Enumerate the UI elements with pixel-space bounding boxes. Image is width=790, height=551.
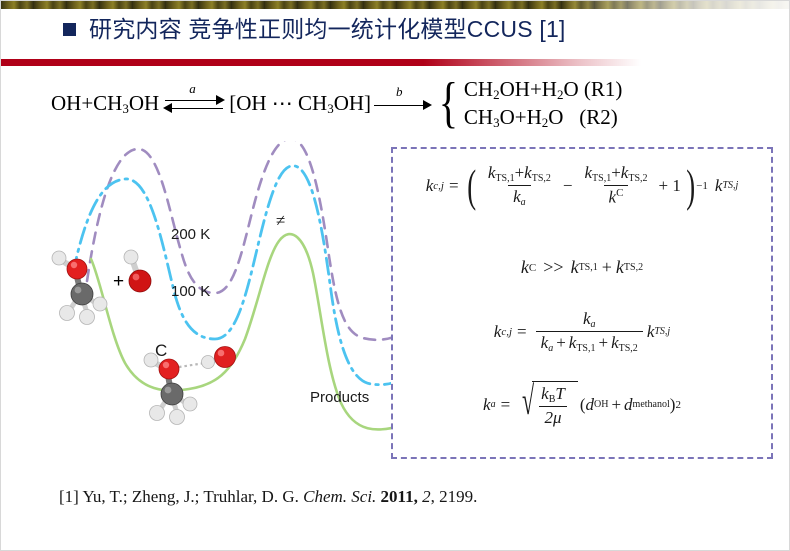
- curve-label-100k: 100 K: [171, 283, 210, 300]
- product-tag-r2: (R2): [579, 105, 618, 129]
- title-accent-bar-cap: [1, 59, 11, 66]
- plus-sign-label: +: [113, 271, 124, 293]
- formula-kc-inequality: kC >> kTS,1 + kTS,2: [393, 257, 771, 278]
- curve-200k: [87, 141, 404, 340]
- formula-kcj-simplified: kc,j = ka ka+kTS,1+kTS,2 kTS,j: [393, 309, 771, 354]
- products-label: Products: [310, 389, 369, 406]
- citation-journal: Chem. Sci.: [303, 487, 376, 506]
- formula-box: kc,j = ( kTS,1+kTS,2 ka − kTS,1+kTS,2 kC…: [391, 147, 773, 459]
- fraction-2: kTS,1+kTS,2 kC: [579, 163, 652, 208]
- product-arrow-icon: b: [374, 92, 432, 116]
- square-root: √ kBT 2μ: [517, 381, 578, 428]
- molecule-oh-radical: [124, 250, 151, 292]
- fraction-3: ka ka+kTS,1+kTS,2: [536, 309, 643, 354]
- arrow-bottom-line: [165, 108, 223, 109]
- second-rate-label: b: [396, 84, 403, 100]
- arrow-line: [374, 105, 428, 106]
- arrow-head: [423, 100, 432, 110]
- product-line-r1: CH2OH+H2O (R1): [464, 76, 622, 104]
- reaction-products-group: { CH2OH+H2O (R1) CH3O+H2O (R2): [435, 76, 622, 131]
- fraction-1: kTS,1+kTS,2 ka: [483, 163, 556, 208]
- molecule-methanol-reactant: [52, 251, 107, 325]
- citation-pages: 2199.: [439, 487, 477, 506]
- brace-glyph: {: [439, 82, 458, 126]
- product-lines: CH2OH+H2O (R1) CH3O+H2O (R2): [464, 76, 622, 131]
- forward-rate-label: a: [189, 81, 196, 97]
- title-bullet-icon: [63, 23, 76, 36]
- citation-authors: Yu, T.; Zheng, J.; Truhlar, D. G.: [82, 487, 298, 506]
- arrow-top-head: [216, 95, 225, 105]
- citation-volume: 2: [422, 487, 431, 506]
- page-title: 研究内容 竞争性正则均一统计化模型CCUS [1]: [89, 18, 566, 41]
- formula-kcj-full: kc,j = ( kTS,1+kTS,2 ka − kTS,1+kTS,2 kC…: [393, 163, 771, 208]
- reference-citation: [1] Yu, T.; Zheng, J.; Truhlar, D. G. Ch…: [59, 487, 477, 507]
- radical-glyph: √: [522, 383, 534, 430]
- potential-energy-diagram: 200 K 100 K C Products ≠ +: [29, 141, 404, 451]
- slide-title-row: 研究内容 竞争性正则均一统计化模型CCUS [1]: [63, 18, 566, 41]
- arrow-bottom-head: [163, 103, 172, 113]
- citation-year: 2011,: [381, 487, 418, 506]
- citation-marker: [1]: [59, 487, 79, 506]
- equilibrium-arrow-icon: a: [163, 91, 225, 117]
- formula-ka-collision: ka = √ kBT 2μ (dOH+dmethanol)2: [393, 381, 771, 428]
- title-accent-bar: [1, 59, 641, 66]
- arrow-top-line: [165, 100, 223, 101]
- transition-state-label: ≠: [276, 211, 285, 231]
- paren-open: (: [467, 169, 476, 202]
- curve-label-200k: 200 K: [171, 226, 210, 243]
- reaction-complex: [OH ⋯ CH3OH]: [229, 91, 371, 117]
- fraction-4: kBT 2μ: [536, 384, 570, 428]
- product-line-r2: CH3O+H2O (R2): [464, 104, 622, 132]
- top-band-fade: [561, 1, 790, 9]
- slide-canvas: 研究内容 竞争性正则均一统计化模型CCUS [1] OH+CH3OH a [OH…: [0, 0, 790, 551]
- paren-close: ): [686, 169, 695, 202]
- complex-label-c: C: [155, 341, 167, 361]
- reaction-reactants: OH+CH3OH: [51, 91, 159, 117]
- reaction-equation: OH+CH3OH a [OH ⋯ CH3OH] b { CH2OH+H2O (R…: [51, 76, 622, 131]
- product-tag-r1: (R1): [584, 77, 623, 101]
